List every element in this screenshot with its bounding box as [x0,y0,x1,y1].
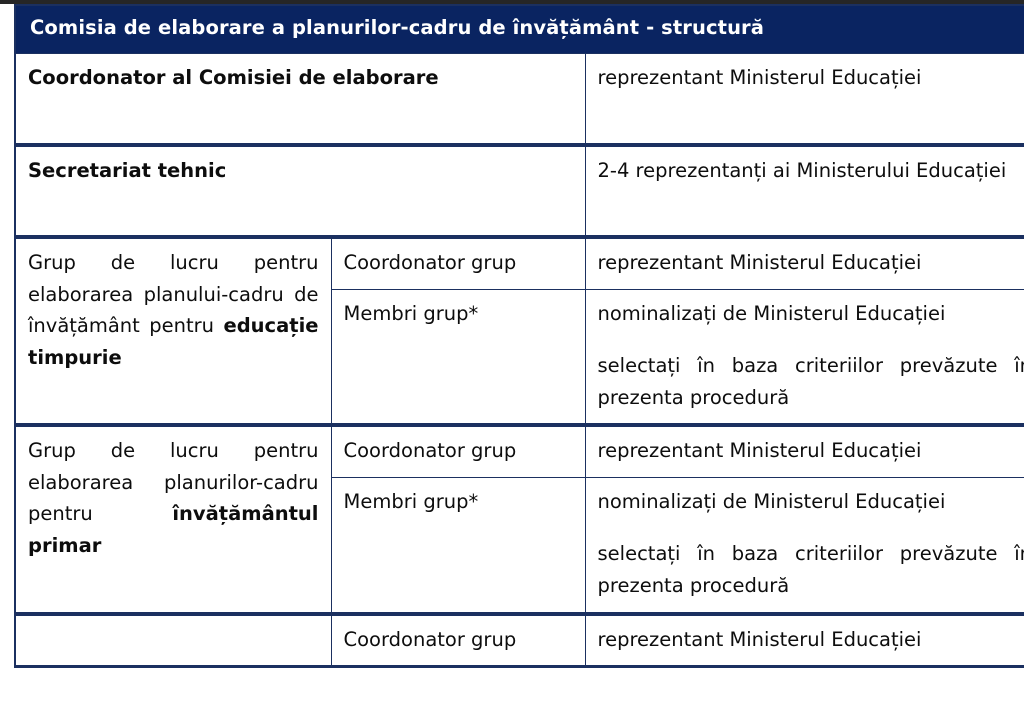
group-label-invatamantul-primar: Grup de lucru pentru elaborarea planuril… [15,425,331,613]
row-label-secretariat-tehnic: Secretariat tehnic [15,145,585,237]
group-label-next-empty [15,614,331,667]
structure-table: Comisia de elaborare a planurilor-cadru … [14,4,1024,668]
table-row: Coordonator grup reprezentant Ministerul… [15,614,1024,667]
role-membri-grup: Membri grup* [331,289,585,425]
membri-grup-line-1: nominalizați de Ministerul Educației [598,486,1024,518]
role-coordonator-grup: Coordonator grup [331,425,585,477]
value-coordonator-grup: reprezentant Ministerul Educației [585,425,1024,477]
membri-grup-line-2: selectați în baza criteriilor prevăzute … [598,350,1024,413]
document-page: Comisia de elaborare a planurilor-cadru … [0,4,1024,706]
group-label-educatie-timpurie: Grup de lucru pentru elaborarea planului… [15,237,331,425]
value-membri-grup: nominalizați de Ministerul Educației sel… [585,477,1024,613]
table-header-row: Comisia de elaborare a planurilor-cadru … [15,5,1024,53]
table-row: Grup de lucru pentru elaborarea planuril… [15,425,1024,477]
value-membri-grup: nominalizați de Ministerul Educației sel… [585,289,1024,425]
role-membri-grup: Membri grup* [331,477,585,613]
role-coordonator-grup: Coordonator grup [331,614,585,667]
table-row: Grup de lucru pentru elaborarea planului… [15,237,1024,289]
structure-table-wrapper: Comisia de elaborare a planurilor-cadru … [14,4,1024,668]
row-label-coordonator-comisie: Coordonator al Comisiei de elaborare [15,53,585,145]
membri-grup-line-2: selectați în baza criteriilor prevăzute … [598,538,1024,601]
role-coordonator-grup: Coordonator grup [331,237,585,289]
membri-grup-line-1: nominalizați de Ministerul Educației [598,298,1024,330]
value-coordonator-grup: reprezentant Ministerul Educației [585,614,1024,667]
row-value-secretariat-tehnic: 2-4 reprezentanți ai Ministerului Educaț… [585,145,1024,237]
table-row: Secretariat tehnic 2-4 reprezentanți ai … [15,145,1024,237]
row-value-coordonator-comisie: reprezentant Ministerul Educației [585,53,1024,145]
table-row: Coordonator al Comisiei de elaborare rep… [15,53,1024,145]
value-coordonator-grup: reprezentant Ministerul Educației [585,237,1024,289]
table-title: Comisia de elaborare a planurilor-cadru … [15,5,1024,53]
